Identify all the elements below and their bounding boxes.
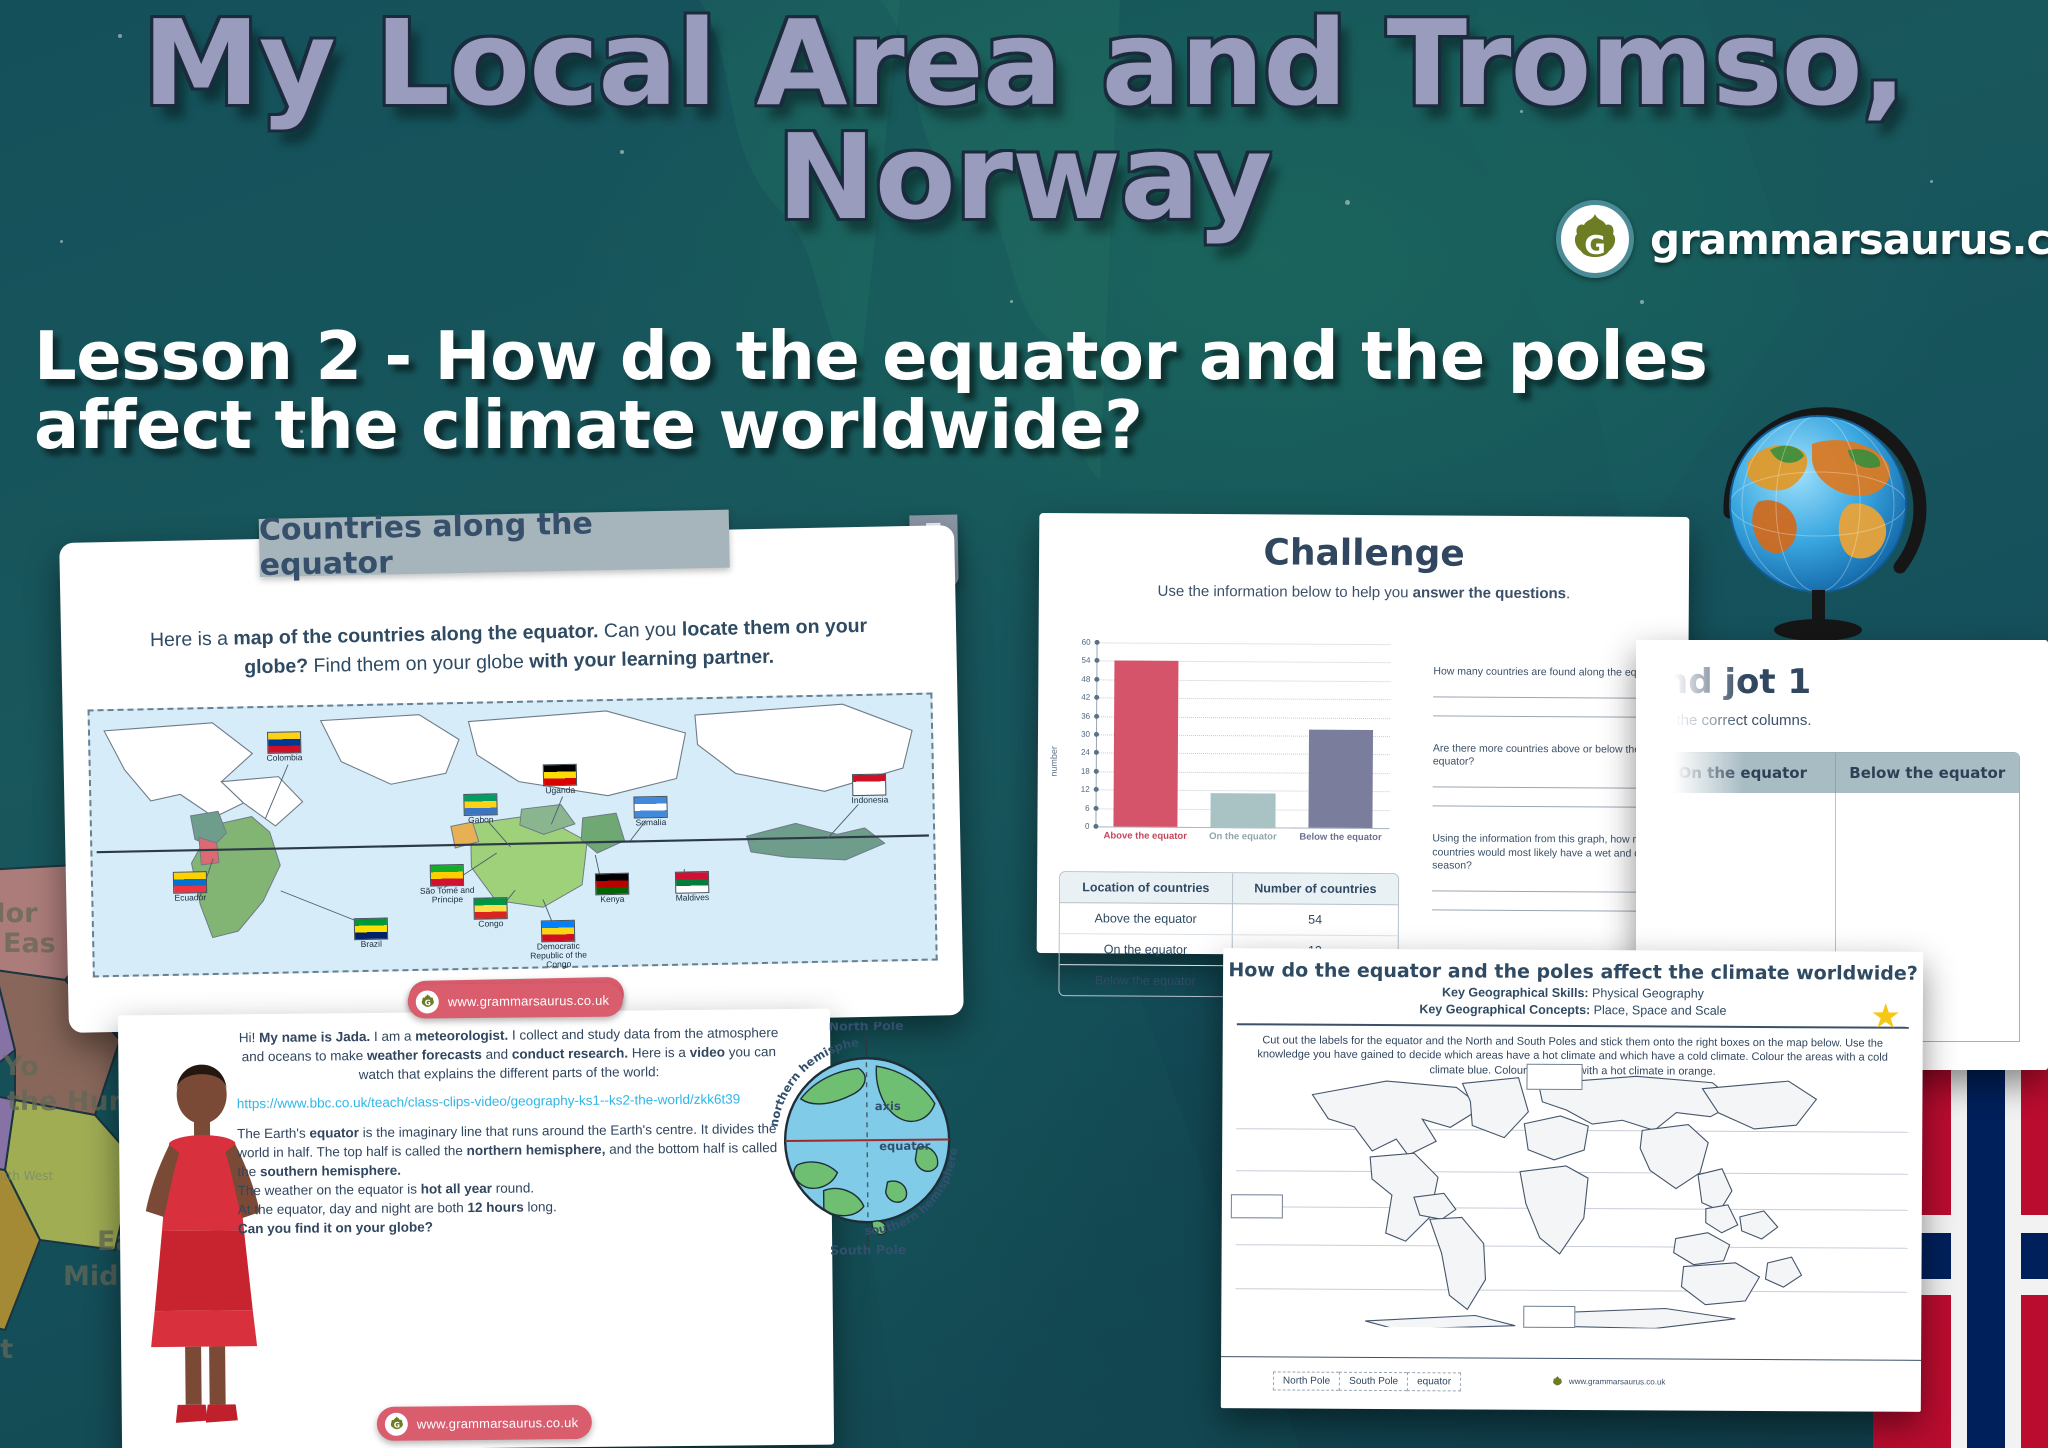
grammarsaurus-logo-icon: G	[385, 1412, 408, 1435]
body-paragraph: The Earth's equator is the imaginary lin…	[237, 1119, 783, 1239]
table-header-row: On the equator Below the equator	[1651, 753, 2019, 793]
svg-text:West: West	[0, 1334, 13, 1365]
column-header: Location of countries	[1060, 872, 1232, 904]
country-flag-congo: Congo	[473, 897, 508, 929]
flag-icon	[430, 864, 464, 887]
flag-icon	[543, 764, 577, 787]
column-header: Below the equator	[1836, 753, 2020, 793]
question-text: Using the information from this graph, h…	[1432, 833, 1667, 874]
flag-label: São Tomé and Príncipe	[415, 886, 479, 905]
table-cell: Above the equator	[1060, 903, 1232, 935]
flag-icon	[267, 731, 301, 754]
chart-y-tick-dot	[1094, 787, 1099, 792]
chart-plot-area: 06121824303642485460Above the equatorOn …	[1095, 642, 1390, 829]
chart-y-tick-dot	[1094, 695, 1099, 700]
grammarsaurus-logo-icon: G	[1556, 200, 1634, 278]
flag-icon	[463, 793, 497, 816]
worksheet-title: How do the equator and the poles affect …	[1223, 959, 1923, 985]
svg-text:G: G	[1584, 231, 1605, 261]
answer-line[interactable]	[1433, 697, 1668, 699]
intro-paragraph: Hi! My name is Jada. I am a meteorologis…	[236, 1023, 782, 1086]
table-header-row: Location of countriesNumber of countries	[1060, 872, 1398, 905]
chart-y-tick-dot	[1094, 677, 1099, 682]
badge-url: www.grammarsaurus.co.uk	[448, 992, 610, 1009]
slide-countries-along-the-equator[interactable]: Countries along the equator Here is a ma…	[59, 525, 964, 1033]
svg-text:G: G	[393, 1420, 399, 1429]
equator-world-map: ColombiaEcuadorBrazilSão Tomé and Prínci…	[88, 693, 938, 978]
video-link[interactable]: https://www.bbc.co.uk/teach/class-clips-…	[237, 1090, 782, 1114]
flag-icon	[675, 871, 709, 894]
column-header: Number of countries	[1232, 873, 1398, 905]
flag-icon	[354, 918, 388, 941]
chart-y-tick-dot	[1094, 732, 1099, 737]
flag-icon	[473, 897, 507, 920]
chart-bar	[1308, 730, 1373, 829]
key-skills-value: Physical Geography	[1592, 986, 1704, 1001]
worksheet-footer: North PoleSouth Poleequator www.grammars…	[1221, 1356, 1921, 1412]
table-cell: Below the equator	[1059, 965, 1231, 997]
flag-icon	[633, 796, 667, 819]
chart-x-tick: Above the equator	[1103, 830, 1186, 842]
key-concepts-label: Key Geographical Concepts:	[1419, 1002, 1590, 1017]
country-flag-ecuador: Ecuador	[173, 871, 208, 903]
star-icon: ★	[1870, 1000, 1901, 1034]
flag-label: Uganda	[545, 786, 575, 796]
table-cell: 54	[1232, 904, 1398, 936]
chart-y-tick: 48	[1081, 675, 1090, 684]
flag-label: Maldives	[676, 893, 710, 903]
country-flag-s-o-tom-and-pr-ncipe: São Tomé and Príncipe	[415, 864, 480, 905]
slide-intro-text: Here is a map of the countries along the…	[121, 611, 897, 685]
star-speck	[1640, 300, 1644, 304]
flag-label: Gabon	[468, 815, 494, 824]
chart-y-tick-dot	[1094, 805, 1099, 810]
chart-gridline	[1098, 642, 1391, 645]
north-pole-label: North Pole	[829, 1021, 904, 1033]
chart-y-tick: 24	[1081, 748, 1090, 757]
answer-line[interactable]	[1433, 806, 1668, 808]
footer-brand: www.grammarsaurus.co.uk	[1551, 1375, 1666, 1389]
answer-line[interactable]	[1432, 890, 1667, 892]
chart-y-tick: 12	[1081, 785, 1090, 794]
chart-x-tick: Below the equator	[1299, 832, 1381, 844]
chart-bar	[1113, 661, 1178, 827]
earth-hemispheres-diagram: axis equator North Pole South Pole north…	[766, 1021, 968, 1259]
bar-chart: number 06121824303642485460Above the equ…	[1055, 638, 1396, 855]
flag-label: Somalia	[635, 818, 666, 828]
flag-label: Colombia	[266, 753, 302, 763]
answer-line[interactable]	[1433, 787, 1668, 789]
slide-subtitle: n the correct columns.	[1664, 712, 1812, 729]
footer-url: www.grammarsaurus.co.uk	[417, 1415, 579, 1432]
chart-y-tick: 54	[1082, 656, 1091, 665]
country-flag-indonesia: Indonesia	[851, 773, 888, 805]
slide-title: nd jot 1	[1664, 662, 1811, 702]
flag-label: Indonesia	[851, 795, 888, 805]
chart-y-tick-dot	[1095, 640, 1100, 645]
slide-challenge[interactable]: Challenge Use the information below to h…	[1037, 513, 1690, 957]
table-cell: On the equator	[1060, 934, 1232, 966]
chart-y-tick: 60	[1082, 638, 1091, 647]
chart-y-tick-dot	[1094, 713, 1099, 718]
country-flag-democratic-republic-of-the-congo: Democratic Republic of the Congo	[526, 919, 591, 969]
answer-line[interactable]	[1432, 909, 1667, 911]
challenge-questions: How many countries are found along the e…	[1432, 665, 1668, 911]
cutout-labels[interactable]: North PoleSouth Poleequator	[1273, 1371, 1461, 1391]
chart-bar	[1211, 793, 1276, 827]
answer-line[interactable]	[1433, 716, 1668, 718]
blank-world-map[interactable]	[1235, 1066, 1908, 1330]
country-flag-maldives: Maldives	[675, 871, 710, 903]
chart-y-tick: 42	[1081, 693, 1090, 702]
slide-header-brand-badge[interactable]: G www.grammarsaurus.co.uk	[408, 983, 623, 1019]
chart-y-tick-dot	[1093, 824, 1098, 829]
flag-icon	[852, 773, 886, 796]
svg-text:G: G	[424, 998, 430, 1007]
brand-name: grammarsaurus.co.uk	[1650, 215, 2048, 264]
flag-label: Kenya	[600, 895, 624, 904]
slide-worksheet[interactable]: How do the equator and the poles affect …	[1221, 948, 1923, 1412]
brand-logo[interactable]: G grammarsaurus.co.uk	[1556, 200, 2048, 278]
country-flag-gabon: Gabon	[463, 793, 498, 825]
flag-label: Brazil	[361, 940, 382, 949]
chart-x-tick: On the equator	[1209, 831, 1277, 842]
chart-y-tick: 6	[1085, 803, 1090, 812]
table-row: Above the equator54	[1060, 903, 1398, 936]
cutout-label[interactable]: equator	[1407, 1372, 1461, 1391]
chart-y-tick: 18	[1081, 767, 1090, 776]
country-flag-colombia: Colombia	[266, 731, 303, 763]
flag-icon	[173, 871, 207, 894]
south-pole-label: South Pole	[830, 1242, 906, 1258]
axis-label: axis	[875, 1099, 901, 1113]
globe-on-stand-icon	[1700, 392, 1940, 652]
slide-footer-brand-badge[interactable]: G www.grammarsaurus.co.uk	[377, 1405, 592, 1441]
grammarsaurus-logo-icon	[1551, 1375, 1564, 1388]
question-text: How many countries are found along the e…	[1433, 665, 1668, 680]
country-flag-brazil: Brazil	[354, 918, 389, 950]
slide-title: Countries along the equator	[259, 510, 730, 577]
slide-body-text: Hi! My name is Jada. I am a meteorologis…	[236, 1023, 783, 1239]
flag-label: Ecuador	[174, 893, 206, 903]
chart-y-axis-label: number	[1049, 746, 1059, 777]
chart-y-tick-dot	[1094, 658, 1099, 663]
key-concepts-line: Key Geographical Concepts: Place, Space …	[1223, 1001, 1923, 1019]
slide-meteorologist[interactable]: G www.grammarsaurus.co.uk Hi! My name is…	[118, 1009, 834, 1448]
grammarsaurus-logo-icon: G	[416, 990, 439, 1013]
star-speck	[1010, 300, 1013, 303]
chart-y-tick: 30	[1081, 730, 1090, 739]
svg-text:Nor: Nor	[0, 898, 38, 929]
svg-text:Yo: Yo	[2, 1051, 39, 1082]
footer-url: www.grammarsaurus.co.uk	[1569, 1377, 1666, 1387]
star-speck	[60, 240, 63, 243]
chart-y-tick-dot	[1094, 769, 1099, 774]
key-concepts-value: Place, Space and Scale	[1594, 1003, 1727, 1018]
challenge-subtitle: Use the information below to help you an…	[1039, 582, 1689, 603]
lesson-heading: Lesson 2 - How do the equator and the po…	[34, 322, 1864, 460]
cutout-label[interactable]: North Pole	[1273, 1371, 1339, 1390]
svg-text:South West: South West	[0, 1169, 53, 1183]
chart-y-tick-dot	[1094, 750, 1099, 755]
chart-y-tick: 0	[1085, 822, 1090, 831]
equator-label: equator	[879, 1139, 931, 1153]
dinosaur-head-icon: G	[1565, 209, 1625, 269]
flag-label: Democratic Republic of the Congo	[526, 941, 591, 969]
chart-y-tick: 36	[1081, 711, 1090, 720]
flag-icon	[541, 920, 575, 943]
country-flag-kenya: Kenya	[595, 873, 630, 905]
country-flag-somalia: Somalia	[633, 796, 668, 828]
column-header: On the equator	[1651, 753, 1836, 793]
key-skills-line: Key Geographical Skills: Physical Geogra…	[1223, 984, 1923, 1002]
key-skills-label: Key Geographical Skills:	[1442, 985, 1589, 1000]
world-map-outline	[90, 695, 936, 976]
divider	[1237, 1023, 1909, 1028]
label-drop-box-equator[interactable]	[1231, 1194, 1283, 1218]
challenge-title: Challenge	[1039, 531, 1689, 576]
flag-label: Congo	[478, 919, 503, 928]
label-drop-box-south-pole[interactable]	[1523, 1306, 1575, 1328]
label-drop-box-north-pole[interactable]	[1526, 1064, 1582, 1090]
country-flag-uganda: Uganda	[543, 764, 578, 796]
flag-icon	[595, 873, 629, 896]
svg-text:Eas: Eas	[3, 928, 56, 959]
world-outline	[1235, 1066, 1908, 1330]
cutout-label[interactable]: South Pole	[1339, 1372, 1407, 1391]
question-text: Are there more countries above or below …	[1433, 743, 1668, 771]
